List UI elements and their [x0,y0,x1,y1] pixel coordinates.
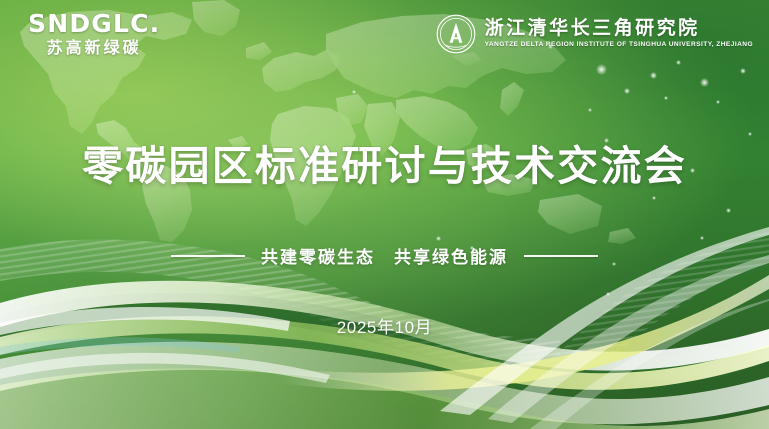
presentation-slide: SNDGLC. 苏高新绿碳 浙江清华长三角研究院 YANGTZE DELTA R… [0,0,769,429]
subtitle-rule-left [171,255,245,257]
subtitle-rule-right [524,255,598,257]
page-title: 零碳园区标准研讨与技术交流会 [0,146,769,187]
logo-tsinghua-yrd-texts: 浙江清华长三角研究院 YANGTZE DELTA REGION INSTITUT… [485,19,753,49]
subtitle-row: 共建零碳生态 共享绿色能源 [0,243,769,268]
logo-tsinghua-yrd-chinese: 浙江清华长三角研究院 [485,19,753,39]
event-date: 2025年10月 [0,313,769,338]
tsinghua-yrd-seal-icon [436,14,476,54]
logo-tsinghua-yrd: 浙江清华长三角研究院 YANGTZE DELTA REGION INSTITUT… [436,14,753,54]
logo-sndglc-wordmark: SNDGLC. [28,11,160,36]
subtitle-text: 共建零碳生态 共享绿色能源 [261,243,508,268]
logo-sndglc: SNDGLC. 苏高新绿碳 [28,11,160,57]
logo-sndglc-chinese: 苏高新绿碳 [28,41,160,57]
logo-tsinghua-yrd-english: YANGTZE DELTA REGION INSTITUTE OF TSINGH… [485,42,753,49]
